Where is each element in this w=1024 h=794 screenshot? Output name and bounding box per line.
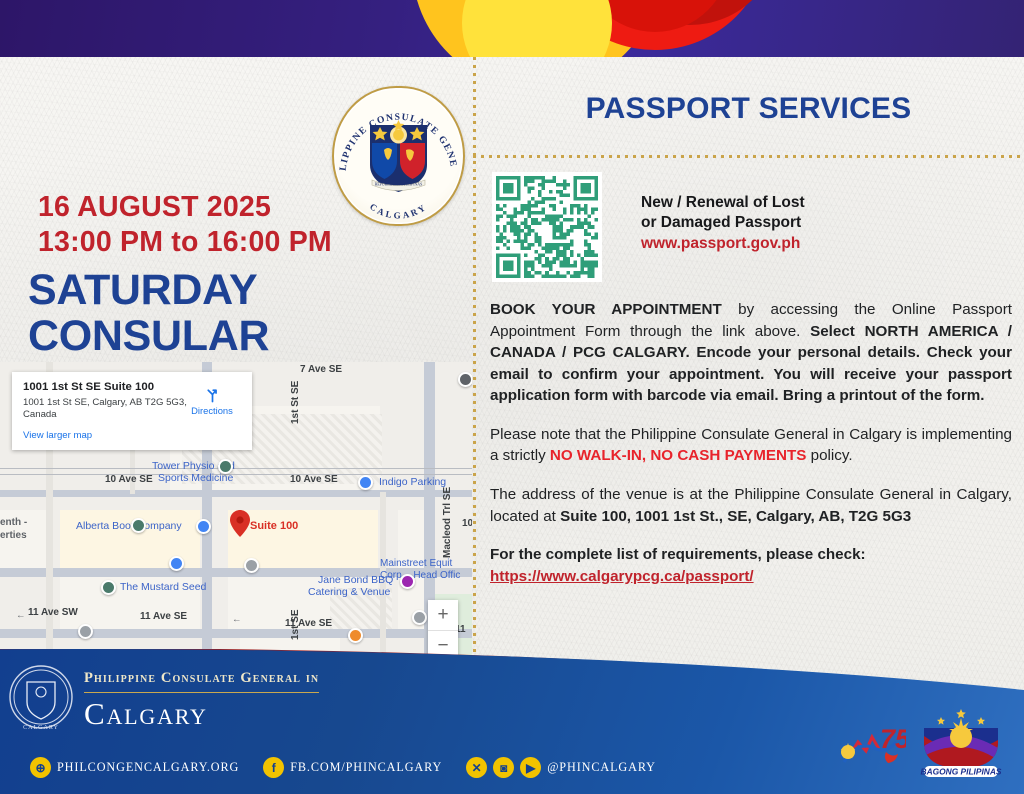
map-poi-label: Indigo Parking xyxy=(379,476,446,488)
map-destination-pin[interactable] xyxy=(230,510,250,537)
one-way-arrow: ← xyxy=(232,614,242,625)
paragraph-booking: BOOK YOUR APPOINTMENT by accessing the O… xyxy=(490,299,1012,407)
passport-qr-code[interactable] xyxy=(492,172,602,282)
one-way-arrow: ← xyxy=(16,610,26,621)
map-street-label: 7 Ave SE xyxy=(300,364,342,375)
map-zoom-in-button[interactable]: + xyxy=(428,600,458,630)
poi-icon-mustard-seed[interactable] xyxy=(101,580,116,595)
map-street-label: 11 Ave SW xyxy=(28,607,78,618)
passport-instructions: BOOK YOUR APPOINTMENT by accessing the O… xyxy=(490,299,1012,587)
social-links: ⊕ PHILCONGENCALGARY.ORG f FB.COM/PHINCAL… xyxy=(30,757,680,778)
poi-icon-parking[interactable] xyxy=(169,556,184,571)
map-street-label: 10 Ave SE xyxy=(290,474,338,485)
headline-line-1: SATURDAY CONSULAR xyxy=(28,268,468,359)
map-info-card[interactable]: 1001 1st St SE Suite 100 1001 1st St SE,… xyxy=(12,372,252,450)
paragraph-policy: Please note that the Philippine Consulat… xyxy=(490,424,1012,467)
qr-caption: New / Renewal of Lost or Damaged Passpor… xyxy=(641,193,1021,253)
passport-services-title: PASSPORT SERVICES xyxy=(473,92,1024,126)
seal-shield-icon: REPUBLIKA NG PILIPINAS xyxy=(368,119,429,193)
vertical-dotted-divider xyxy=(473,57,476,697)
svg-text:BAGONG PILIPINAS: BAGONG PILIPINAS xyxy=(921,766,1002,776)
footer: CALGARY Philippine Consulate General in … xyxy=(0,649,1024,794)
top-decorative-band xyxy=(0,0,1024,57)
svg-text:CALGARY: CALGARY xyxy=(368,201,429,220)
map-poi-label: Jane Bond BBQ xyxy=(318,574,393,586)
map-poi-label: Mainstreet Equit xyxy=(380,558,452,569)
map-railway xyxy=(0,474,472,475)
event-date: 16 AUGUST 2025 xyxy=(38,190,271,225)
svg-text:CALGARY: CALGARY xyxy=(23,725,59,731)
map-street-label: 1st St SE xyxy=(290,381,301,424)
map-card-address-line1: 1001 1st St SE, Calgary, AB T2G 5G3, xyxy=(23,397,187,408)
poi-icon-generic[interactable] xyxy=(244,558,259,573)
passport-website-url[interactable]: www.passport.gov.ph xyxy=(641,235,1021,253)
directions-icon xyxy=(204,386,221,403)
map-street-label: 1st SE xyxy=(290,609,301,640)
facebook-label[interactable]: FB.COM/PHINCALGARY xyxy=(290,760,442,775)
website-label[interactable]: PHILCONGENCALGARY.ORG xyxy=(57,760,239,775)
venue-address: Suite 100, 1001 1st St., SE, Calgary, AB… xyxy=(560,508,911,525)
youtube-icon[interactable]: ▶ xyxy=(520,757,541,778)
paragraph-requirements: For the complete list of requirements, p… xyxy=(490,544,1012,587)
handle-label[interactable]: @PHINCALGARY xyxy=(547,760,656,775)
poi-icon-tower-physio[interactable] xyxy=(218,459,233,474)
footer-org-name: Philippine Consulate General in Calgary xyxy=(84,669,414,732)
map-card-address-line2: Canada xyxy=(23,409,57,420)
anniversary-75-logo: 75 xyxy=(834,718,906,776)
no-walkin-no-cash-notice: NO WALK-IN, NO CASH PAYMENTS xyxy=(550,447,807,464)
consulate-seal: PHILIPPINE CONSULATE GENERAL CALGARY REP… xyxy=(332,86,465,226)
map-road-11ave xyxy=(0,629,472,638)
map-poi-label: Catering & Venue xyxy=(308,586,390,598)
map-poi-label: enth - xyxy=(0,517,27,528)
x-icon[interactable]: ✕ xyxy=(466,757,487,778)
map-road xyxy=(0,490,472,497)
poi-icon-generic[interactable] xyxy=(458,372,472,387)
poi-icon-jane-bond[interactable] xyxy=(400,574,415,589)
map-railway xyxy=(0,468,472,469)
map-street-label: 10 Ave SE xyxy=(105,474,153,485)
event-time: 13:00 PM to 16:00 PM xyxy=(38,226,332,259)
directions-label: Directions xyxy=(182,405,242,416)
qr-caption-line2: or Damaged Passport xyxy=(641,213,1021,233)
requirements-label: For the complete list of requirements, p… xyxy=(490,546,866,563)
poi-icon-generic[interactable] xyxy=(131,518,146,533)
poi-icon-restaurant[interactable] xyxy=(348,628,363,643)
svg-text:REPUBLIKA NG PILIPINAS: REPUBLIKA NG PILIPINAS xyxy=(375,183,423,187)
map-poi-label: Sports Medicine xyxy=(158,472,233,484)
view-larger-map-link[interactable]: View larger map xyxy=(23,430,241,441)
bagong-pilipinas-logo: BAGONG PILIPINAS xyxy=(914,706,1008,780)
poi-icon-indigo-parking[interactable] xyxy=(358,475,373,490)
footer-consulate-seal: CALGARY xyxy=(8,662,74,732)
instagram-icon[interactable]: ◙ xyxy=(493,757,514,778)
paragraph-address: The address of the venue is at the Phili… xyxy=(490,484,1012,527)
globe-icon[interactable]: ⊕ xyxy=(30,757,51,778)
map-poi-label: erties xyxy=(0,530,27,541)
poi-icon-generic[interactable] xyxy=(412,610,427,625)
policy-text-tail: policy. xyxy=(806,447,852,464)
decor-circle-yellow-light xyxy=(462,0,612,57)
map-poi-label: Alberta Boot Company xyxy=(76,520,182,532)
qr-caption-line1: New / Renewal of Lost xyxy=(641,193,1021,213)
svg-text:75: 75 xyxy=(880,724,906,754)
map-street-label: 10 xyxy=(462,518,472,529)
qr-code-image xyxy=(496,176,598,278)
footer-org-line2: Calgary xyxy=(84,696,414,732)
facebook-icon[interactable]: f xyxy=(263,757,284,778)
poi-icon-generic[interactable] xyxy=(78,624,93,639)
map-street-label: Macleod Trl SE xyxy=(442,487,453,558)
book-appointment-emphasis: BOOK YOUR APPOINTMENT xyxy=(490,301,722,318)
footer-org-line1: Philippine Consulate General in xyxy=(84,670,319,693)
requirements-link[interactable]: https://www.calgarypcg.ca/passport/ xyxy=(490,568,754,585)
location-map[interactable]: 1001 1st St SE Suite 100 1001 1st St SE,… xyxy=(0,362,472,698)
directions-button[interactable]: Directions xyxy=(182,386,242,416)
poi-icon-alberta-boot[interactable] xyxy=(196,519,211,534)
map-pin-label: Suite 100 xyxy=(250,520,298,532)
poster-canvas: PHILIPPINE CONSULATE GENERAL CALGARY REP… xyxy=(0,0,1024,794)
horizontal-dotted-divider xyxy=(473,155,1024,158)
map-poi-label: The Mustard Seed xyxy=(120,581,206,593)
map-street-label: 11 Ave SE xyxy=(140,611,187,622)
